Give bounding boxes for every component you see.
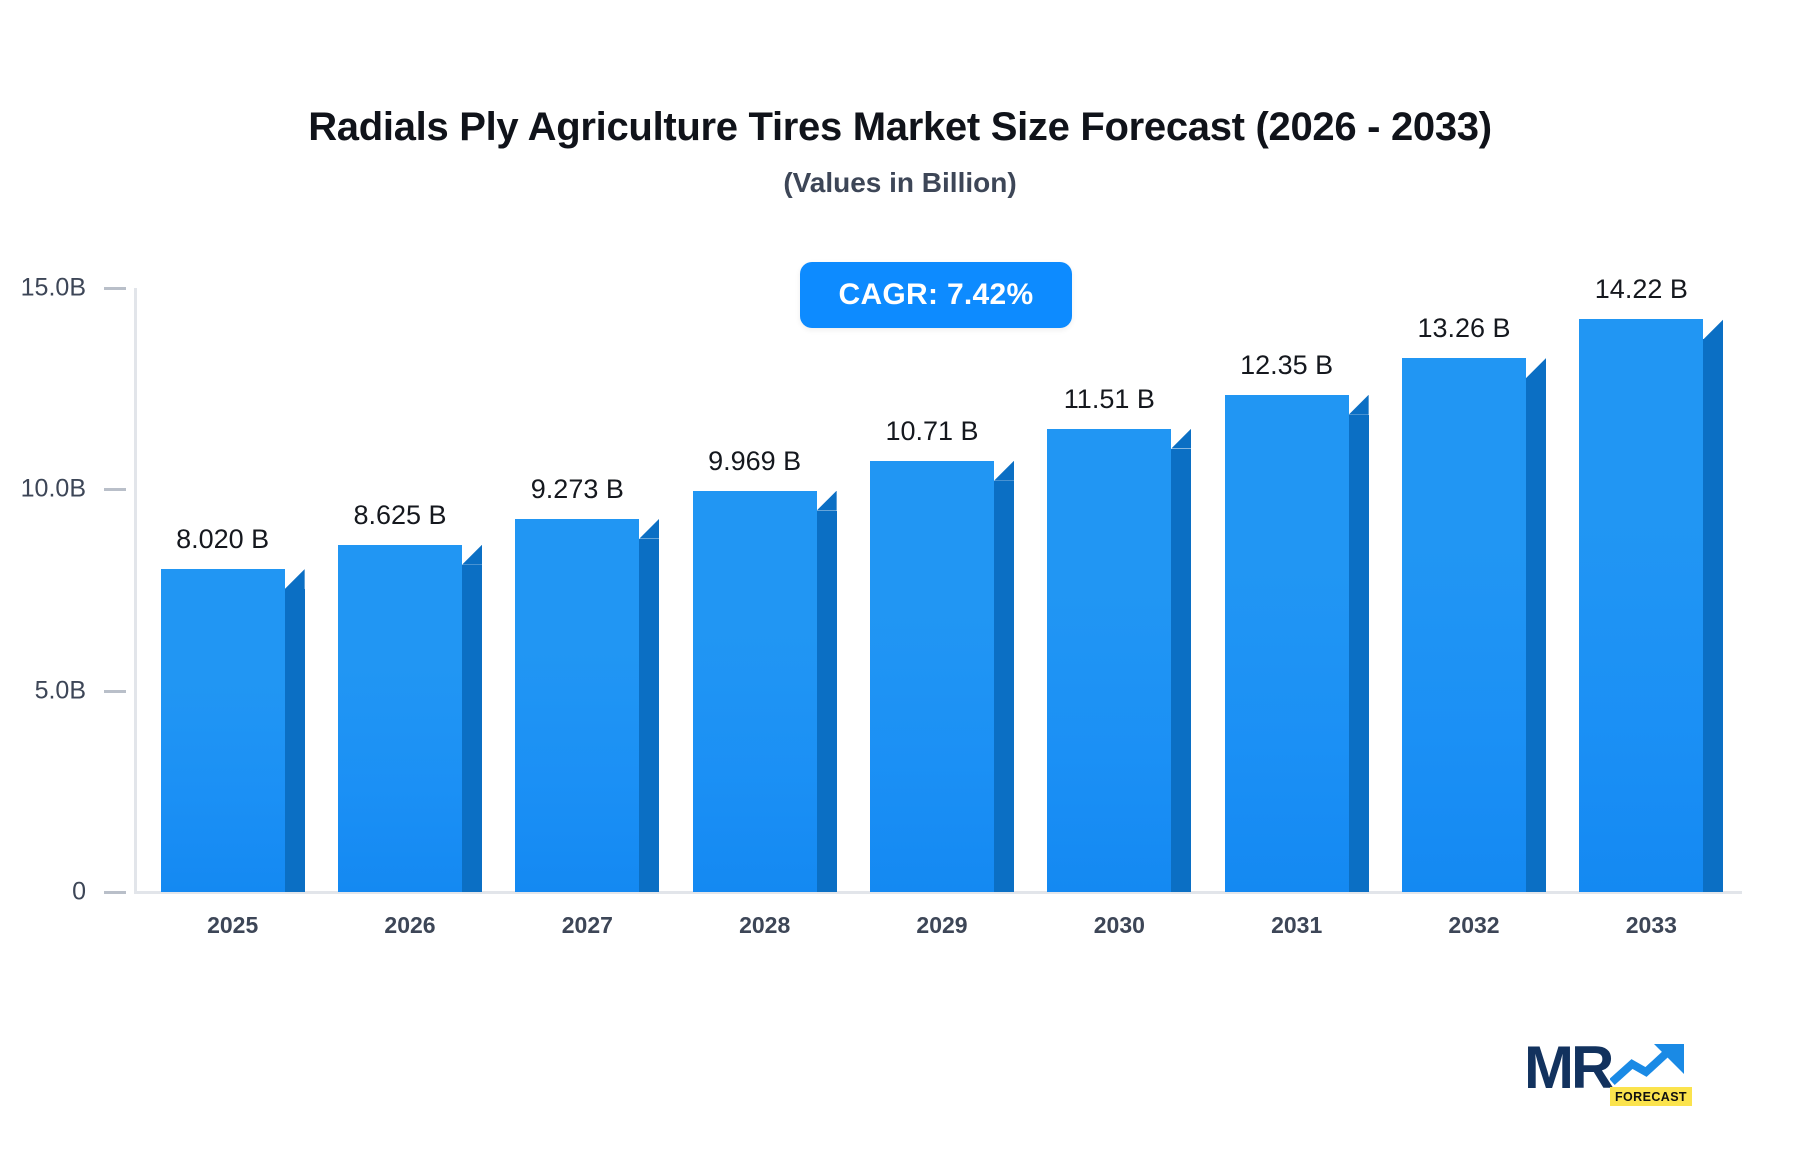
plot-area: 8.020 B8.625 B9.273 B9.969 B10.71 B11.51… — [134, 288, 1730, 892]
x-axis-tick-label: 2031 — [1271, 912, 1322, 939]
y-axis-tick-label: 0 — [72, 878, 86, 907]
logo-wordmark: MR — [1524, 1038, 1611, 1098]
y-axis-tick-label: 10.0B — [21, 475, 86, 504]
bar-value-label: 13.26 B — [1417, 313, 1510, 344]
bar-top-face — [1171, 429, 1191, 449]
bar-side-face — [285, 589, 305, 892]
bar-top-face — [285, 569, 305, 589]
y-axis-tick-mark — [104, 891, 126, 894]
title-block: Radials Ply Agriculture Tires Market Siz… — [0, 105, 1800, 199]
bar-value-label: 8.020 B — [176, 524, 269, 555]
cagr-badge: CAGR: 7.42% — [800, 262, 1072, 328]
bar: 13.26 B — [1402, 358, 1526, 892]
bar-side-face — [639, 539, 659, 892]
y-axis-tick-mark — [104, 287, 126, 290]
logo-tagline: FORECAST — [1610, 1087, 1692, 1106]
bar-front-face — [1225, 395, 1349, 892]
bar-top-face — [817, 491, 837, 511]
bar-front-face — [693, 491, 817, 892]
bar: 9.273 B — [515, 519, 639, 892]
bar-side-face — [994, 481, 1014, 892]
y-axis-tick-mark — [104, 488, 126, 491]
bar: 8.625 B — [338, 545, 462, 892]
bar-front-face — [1402, 358, 1526, 892]
bar-side-face — [1171, 449, 1191, 892]
bar: 10.71 B — [870, 461, 994, 892]
x-axis-tick-label: 2027 — [562, 912, 613, 939]
bar-value-label: 9.273 B — [531, 474, 624, 505]
page-title: Radials Ply Agriculture Tires Market Siz… — [0, 105, 1800, 149]
bar-value-label: 8.625 B — [353, 500, 446, 531]
bar-front-face — [870, 461, 994, 892]
bar: 14.22 B — [1579, 319, 1703, 892]
y-axis-tick-label: 15.0B — [21, 274, 86, 303]
bar: 9.969 B — [693, 491, 817, 892]
brand-logo: MR FORECAST — [1524, 1032, 1696, 1116]
bar-side-face — [1526, 378, 1546, 892]
chart-subtitle: (Values in Billion) — [0, 167, 1800, 199]
bar-value-label: 10.71 B — [885, 416, 978, 447]
bar-front-face — [1047, 429, 1171, 892]
x-axis-tick-label: 2032 — [1448, 912, 1499, 939]
bar: 12.35 B — [1225, 395, 1349, 892]
bar-front-face — [515, 519, 639, 892]
bar: 11.51 B — [1047, 429, 1171, 892]
x-axis-tick-label: 2029 — [916, 912, 967, 939]
bar-top-face — [994, 461, 1014, 481]
bar-front-face — [338, 545, 462, 892]
bar-value-label: 12.35 B — [1240, 350, 1333, 381]
x-axis-tick-label: 2030 — [1094, 912, 1145, 939]
bar-top-face — [462, 545, 482, 565]
bar-top-face — [1703, 319, 1723, 339]
bar-front-face — [1579, 319, 1703, 892]
bar-side-face — [1703, 339, 1723, 892]
y-axis-tick-mark — [104, 690, 126, 693]
bar-front-face — [161, 569, 285, 892]
x-axis-tick-label: 2025 — [207, 912, 258, 939]
bar-top-face — [1526, 358, 1546, 378]
trend-arrow-icon — [1610, 1042, 1690, 1086]
bar-value-label: 9.969 B — [708, 446, 801, 477]
x-axis-tick-label: 2028 — [739, 912, 790, 939]
bar-top-face — [1349, 395, 1369, 415]
bar: 8.020 B — [161, 569, 285, 892]
bar-value-label: 11.51 B — [1064, 384, 1155, 415]
x-axis-tick-label: 2033 — [1626, 912, 1677, 939]
y-axis-tick-label: 5.0B — [35, 676, 86, 705]
x-axis-tick-label: 2026 — [384, 912, 435, 939]
bar-side-face — [1349, 415, 1369, 892]
bar-value-label: 14.22 B — [1595, 274, 1688, 305]
bar-side-face — [817, 511, 837, 892]
bar-side-face — [462, 565, 482, 892]
bar-top-face — [639, 519, 659, 539]
chart-figure: Radials Ply Agriculture Tires Market Siz… — [0, 0, 1800, 1156]
